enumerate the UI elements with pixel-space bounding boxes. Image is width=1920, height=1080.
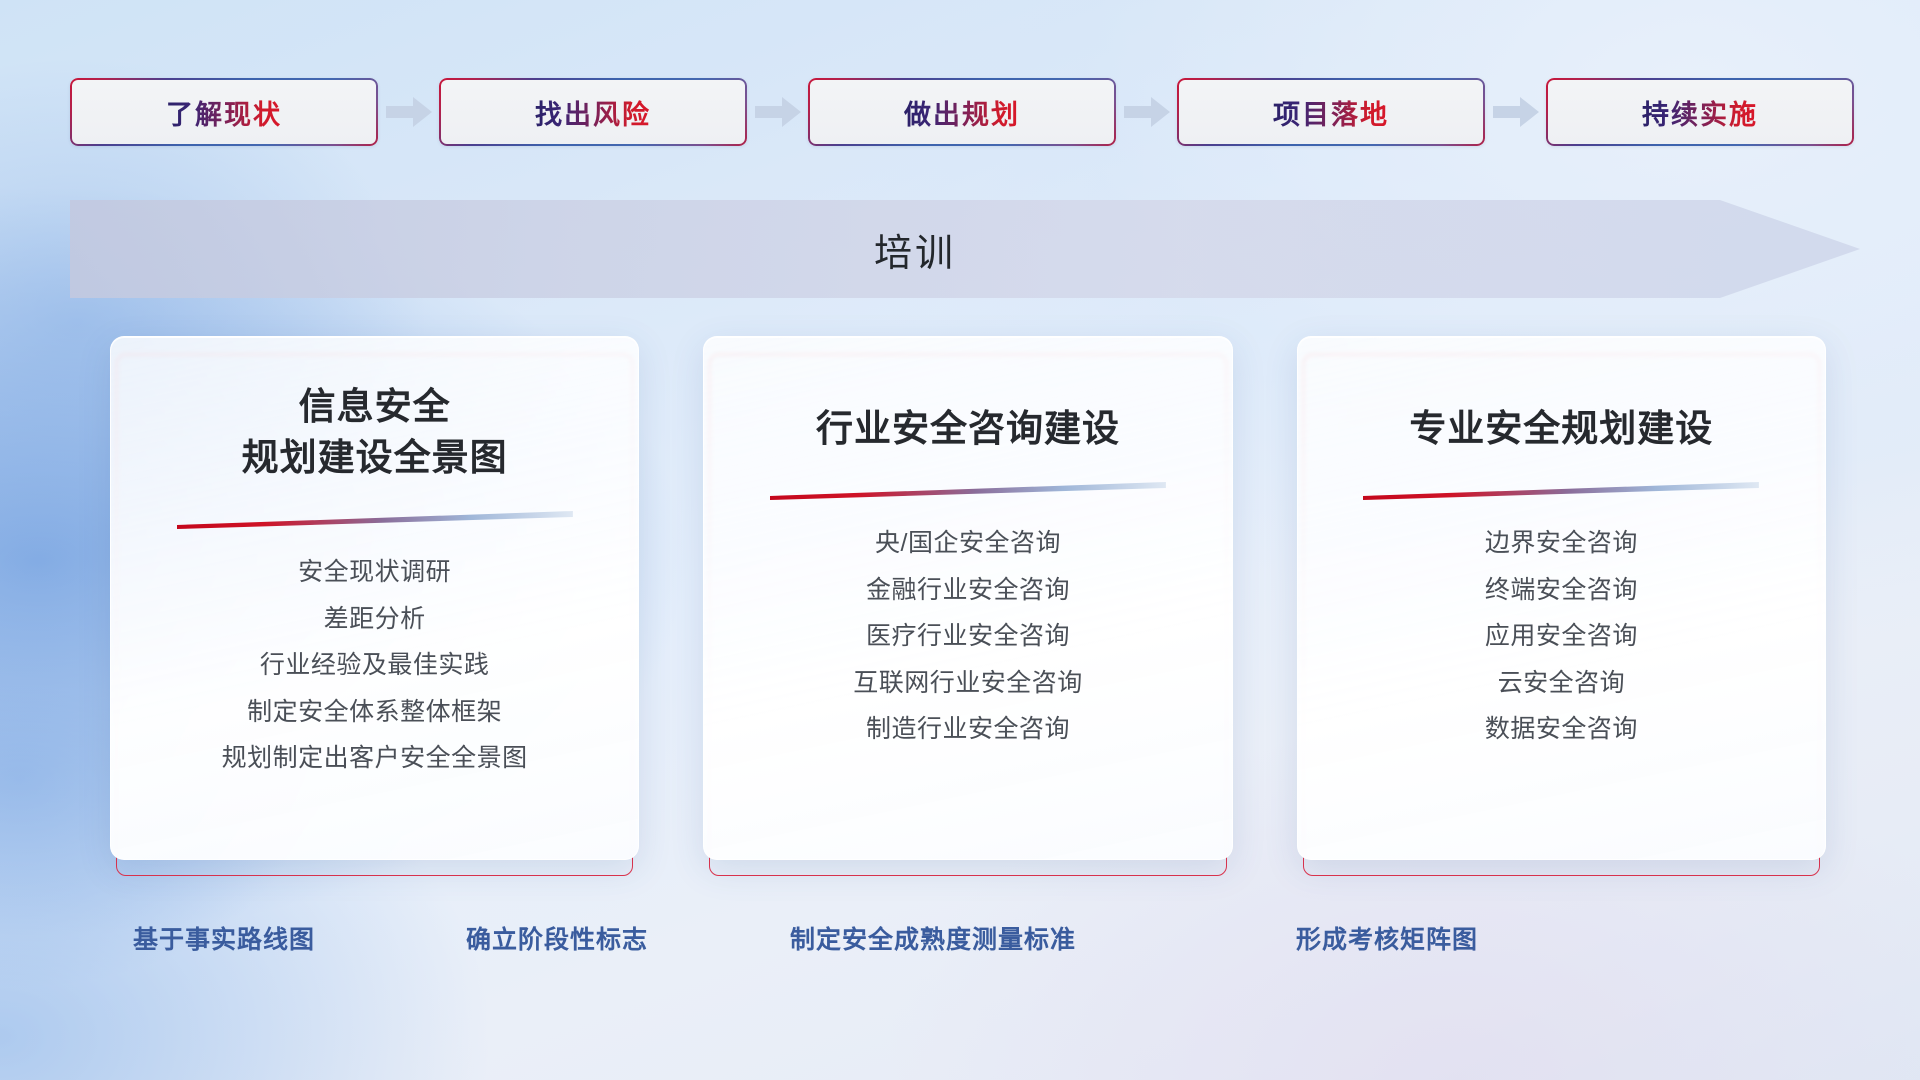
flow-step-5[interactable]: 持续实施	[1546, 78, 1854, 146]
flow-step-4[interactable]: 项目落地	[1177, 78, 1485, 146]
list-item: 差距分析	[324, 606, 426, 634]
flow-step-1[interactable]: 了解现状	[70, 78, 378, 146]
card-body[interactable]: 行业安全咨询建设	[703, 336, 1232, 860]
flow-step-label: 了解现状	[166, 93, 282, 132]
right-arrow-icon	[386, 97, 432, 127]
gradient-divider-icon	[1363, 480, 1759, 500]
card-title: 专业安全规划建设	[1409, 403, 1713, 454]
list-item: 终端安全咨询	[1485, 577, 1638, 605]
list-item: 规划制定出客户安全全景图	[222, 745, 528, 773]
right-arrow-icon	[1124, 97, 1170, 127]
process-flow: 了解现状 找出风险 做出规划 项目落地	[70, 78, 1854, 146]
gradient-divider-icon	[770, 480, 1166, 500]
right-arrow-icon	[1493, 97, 1539, 127]
list-item: 数据安全咨询	[1485, 716, 1638, 744]
list-item: 金融行业安全咨询	[866, 577, 1070, 605]
slide-canvas: 了解现状 找出风险 做出规划 项目落地	[0, 0, 1920, 1080]
flow-step-3[interactable]: 做出规划	[808, 78, 1116, 146]
footer-label-3: 制定安全成熟度测量标准	[790, 920, 1076, 956]
card-divider	[177, 509, 573, 529]
card-divider	[1363, 480, 1759, 500]
flow-arrow-1	[378, 78, 439, 146]
list-item: 医疗行业安全咨询	[866, 623, 1070, 651]
list-item: 应用安全咨询	[1485, 623, 1638, 651]
card-2: 行业安全咨询建设	[703, 336, 1232, 876]
right-arrow-icon	[755, 97, 801, 127]
flow-step-label: 项目落地	[1273, 93, 1389, 132]
flow-step-2[interactable]: 找出风险	[439, 78, 747, 146]
card-title: 信息安全 规划建设全景图	[242, 381, 508, 483]
card-divider	[770, 480, 1166, 500]
flow-step-label: 持续实施	[1642, 93, 1758, 132]
list-item: 安全现状调研	[298, 559, 451, 587]
card-group: 信息安全 规划建设全景图	[110, 336, 1826, 876]
card-body[interactable]: 信息安全 规划建设全景图	[110, 336, 639, 860]
list-item: 云安全咨询	[1498, 670, 1626, 698]
flow-arrow-3	[1116, 78, 1177, 146]
footer-label-1: 基于事实路线图	[133, 920, 315, 956]
flow-arrow-2	[747, 78, 808, 146]
flow-step-label: 找出风险	[535, 93, 651, 132]
card-3: 专业安全规划建设	[1297, 336, 1826, 876]
training-banner: 培训	[70, 200, 1860, 298]
card-title: 行业安全咨询建设	[816, 403, 1120, 454]
card-list: 边界安全咨询 终端安全咨询 应用安全咨询 云安全咨询 数据安全咨询	[1485, 530, 1638, 744]
list-item: 制造行业安全咨询	[866, 716, 1070, 744]
flow-step-label: 做出规划	[904, 93, 1020, 132]
card-body[interactable]: 专业安全规划建设	[1297, 336, 1826, 860]
list-item: 边界安全咨询	[1485, 530, 1638, 558]
card-list: 安全现状调研 差距分析 行业经验及最佳实践 制定安全体系整体框架 规划制定出客户…	[222, 559, 528, 773]
list-item: 央/国企安全咨询	[875, 530, 1061, 558]
footer-label-2: 确立阶段性标志	[466, 920, 648, 956]
list-item: 互联网行业安全咨询	[853, 670, 1083, 698]
gradient-divider-icon	[177, 509, 573, 529]
footer-labels: 基于事实路线图 确立阶段性标志 制定安全成熟度测量标准 形成考核矩阵图	[0, 920, 1920, 980]
footer-label-4: 形成考核矩阵图	[1296, 920, 1478, 956]
list-item: 制定安全体系整体框架	[247, 699, 502, 727]
card-1: 信息安全 规划建设全景图	[110, 336, 639, 876]
list-item: 行业经验及最佳实践	[260, 652, 490, 680]
card-list: 央/国企安全咨询 金融行业安全咨询 医疗行业安全咨询 互联网行业安全咨询 制造行…	[853, 530, 1083, 744]
banner-title: 培训	[70, 200, 1760, 298]
flow-arrow-4	[1485, 78, 1546, 146]
